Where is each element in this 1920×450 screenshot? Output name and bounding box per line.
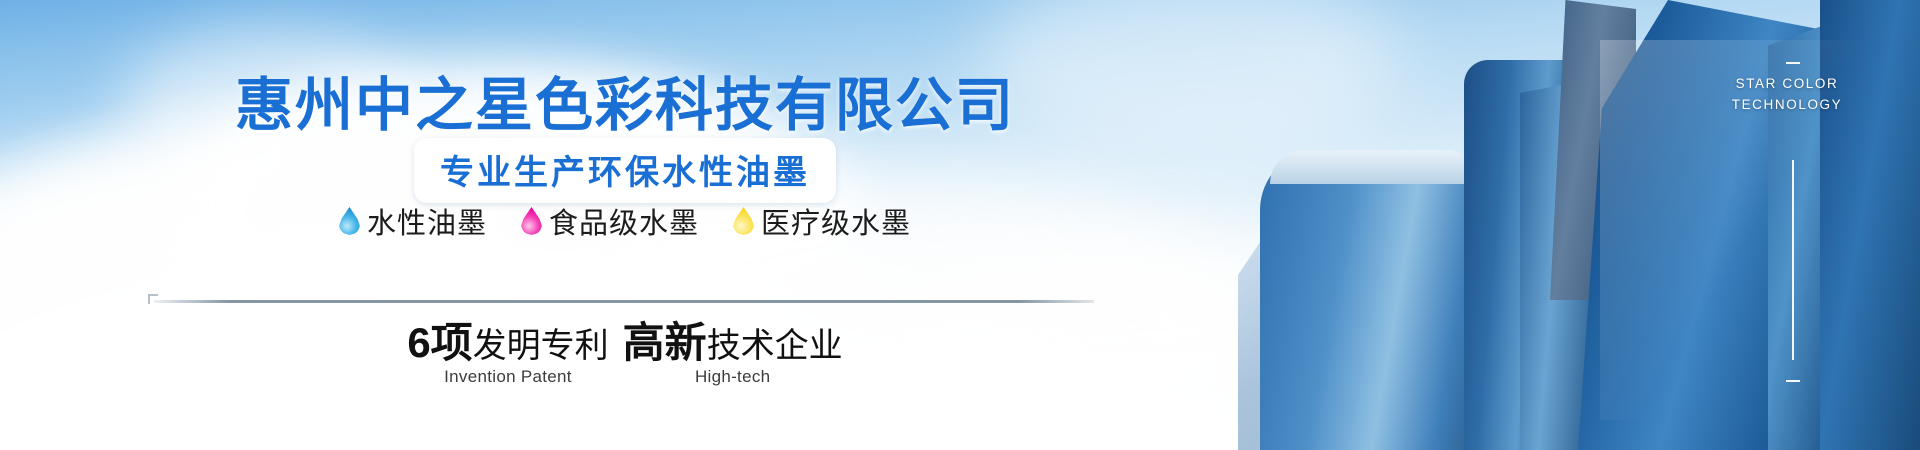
water-drop-icon xyxy=(521,207,542,235)
badge-invention-patent: 6项发明专利 Invention Patent xyxy=(407,320,608,387)
building-rounded-cap xyxy=(1270,150,1480,184)
credential-badges: 6项发明专利 Invention Patent 高新技术企业 High-tech xyxy=(0,320,1250,387)
overlay-brand-text: STAR COLOR TECHNOLOGY xyxy=(1692,74,1882,116)
badge-rest: 发明专利 xyxy=(473,327,609,365)
company-title: 惠州中之星色彩科技有限公司 xyxy=(0,58,1250,142)
feature-list: 水性油墨 食品级水墨 医疗级水墨 xyxy=(0,200,1250,242)
brand-vertical-rule xyxy=(1792,160,1794,360)
skyscraper-photo: STAR COLOR TECHNOLOGY xyxy=(1220,0,1920,450)
company-hero-banner: Star Color STAR COLOR TECHNOLOGY 惠州中之星色彩… xyxy=(0,0,1920,450)
subtitle-pill: 专业生产环保水性油墨 xyxy=(414,138,836,203)
feature-label: 水性油墨 xyxy=(367,200,487,242)
badge-rest: 技术企业 xyxy=(707,327,843,365)
badge-highlight: 6项 xyxy=(407,319,472,366)
badge-cn-line: 高新技术企业 xyxy=(623,320,843,365)
brand-dash-top xyxy=(1786,62,1800,64)
overlay-brand-line-2: TECHNOLOGY xyxy=(1692,95,1882,116)
feature-item: 食品级水墨 xyxy=(521,200,699,242)
feature-item: 医疗级水墨 xyxy=(733,200,911,242)
overlay-brand-line-1: STAR COLOR xyxy=(1692,74,1882,95)
badge-high-tech: 高新技术企业 High-tech xyxy=(623,320,843,387)
building-rounded xyxy=(1260,150,1490,450)
badge-highlight: 高新 xyxy=(623,319,707,366)
building-right-edge xyxy=(1820,0,1920,450)
subtitle-pill-label: 专业生产环保水性油墨 xyxy=(440,154,810,192)
feature-label: 食品级水墨 xyxy=(549,200,699,242)
badge-cn-line: 6项发明专利 xyxy=(407,320,608,365)
feature-label: 医疗级水墨 xyxy=(761,200,911,242)
feature-item: 水性油墨 xyxy=(339,200,487,242)
brand-dash-bottom xyxy=(1786,380,1800,382)
badge-en-line: Invention Patent xyxy=(407,367,608,387)
banner-content: 惠州中之星色彩科技有限公司 专业生产环保水性油墨 水性油墨 食品级水墨 医疗级水… xyxy=(0,0,1250,450)
water-drop-icon xyxy=(339,207,360,235)
water-drop-icon xyxy=(733,207,754,235)
badge-en-line: High-tech xyxy=(623,367,843,387)
section-divider xyxy=(154,300,1094,303)
